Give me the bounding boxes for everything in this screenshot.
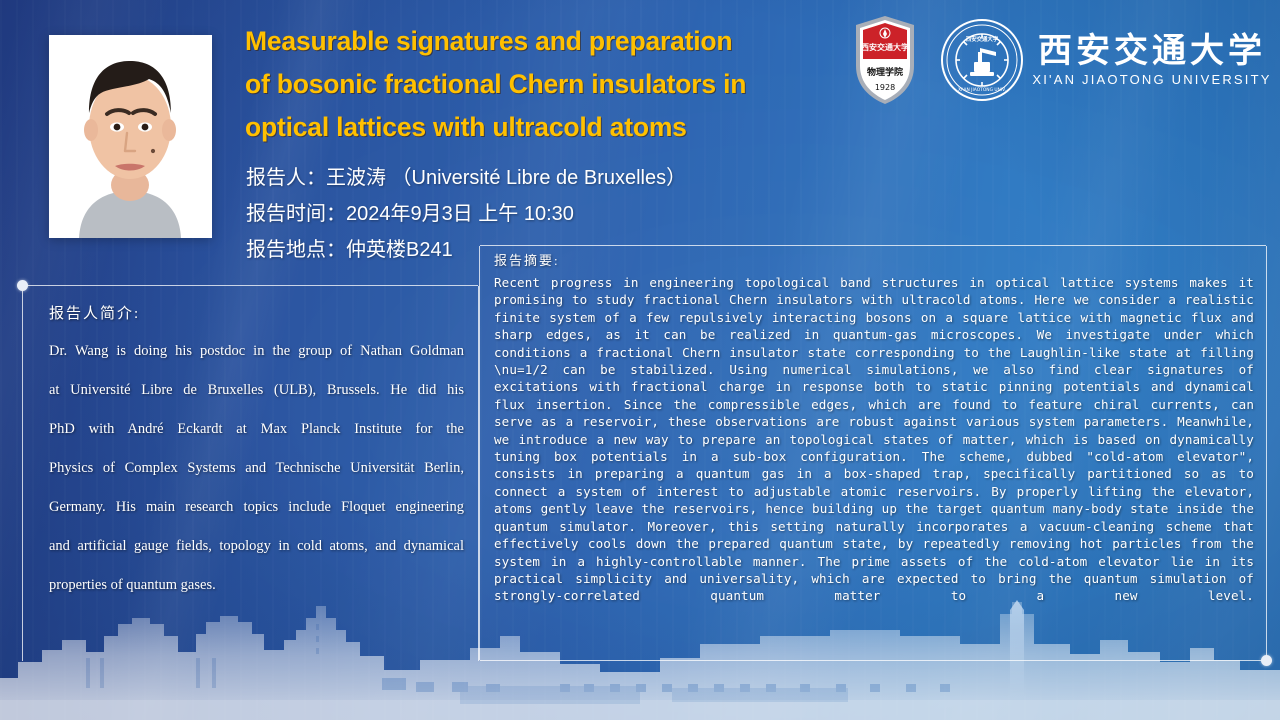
abstract-body: Recent progress in engineering topologic… [494,274,1254,605]
speaker-line: 报告人：王波涛 （Université Libre de Bruxelles） [246,160,806,196]
abstract-panel: 报告摘要: Recent progress in engineering top… [480,246,1267,661]
svg-text:1896: 1896 [976,65,987,70]
university-seal-logo: 西安交通大学 1896 XI'AN JIAOTONG UNIV. [940,18,1024,102]
title-line-2: of bosonic fractional Chern insulators i… [245,63,815,106]
bio-heading: 报告人简介: [49,302,464,323]
svg-text:物理学院: 物理学院 [867,66,903,78]
time-line: 报告时间：2024年9月3日 上午 10:30 [246,196,806,232]
bio-line: properties of quantum gases. [49,577,464,594]
svg-text:西安交通大学: 西安交通大学 [1038,31,1266,71]
svg-text:西安交通大学: 西安交通大学 [861,42,909,52]
panel-corner-dot [1261,655,1272,666]
abstract-heading: 报告摘要: [494,250,1254,269]
panel-top-edge [480,245,1266,246]
title-line-1: Measurable signatures and preparation [245,20,815,63]
bio-line: at Université Libre de Bruxelles (ULB), … [49,382,464,399]
panel-left-edge [479,246,480,660]
svg-text:XI'AN JIAOTONG UNIV.: XI'AN JIAOTONG UNIV. [958,87,1006,93]
poster-canvas: Measurable signatures and preparation of… [0,0,1280,720]
panel-corner-dot [17,280,28,291]
physics-school-shield-logo: 西安交通大学 物理学院 1928 [853,14,917,106]
page-title: Measurable signatures and preparation of… [245,20,815,149]
title-line-3: optical lattices with ultracold atoms [245,106,815,149]
bio-line: PhD with André Eckardt at Max Planck Ins… [49,421,464,438]
bio-line: Physics of Complex Systems and Technisch… [49,460,464,477]
bio-body: Dr. Wang is doing his postdoc in the gro… [49,343,464,594]
svg-text:XI'AN JIAOTONG UNIVERSITY: XI'AN JIAOTONG UNIVERSITY [1032,72,1271,87]
speaker-portrait [49,35,212,238]
university-wordmark: 西安交通大学 XI'AN JIAOTONG UNIVERSITY [1032,22,1272,98]
svg-text:1928: 1928 [875,83,895,92]
bio-line: Dr. Wang is doing his postdoc in the gro… [49,343,464,360]
bio-line: Germany. His main research topics includ… [49,499,464,516]
svg-text:西安交通大学: 西安交通大学 [966,35,999,43]
speaker-bio-panel: 报告人简介: Dr. Wang is doing his postdoc in … [22,285,478,661]
bio-line: and artificial gauge fields, topology in… [49,538,464,555]
